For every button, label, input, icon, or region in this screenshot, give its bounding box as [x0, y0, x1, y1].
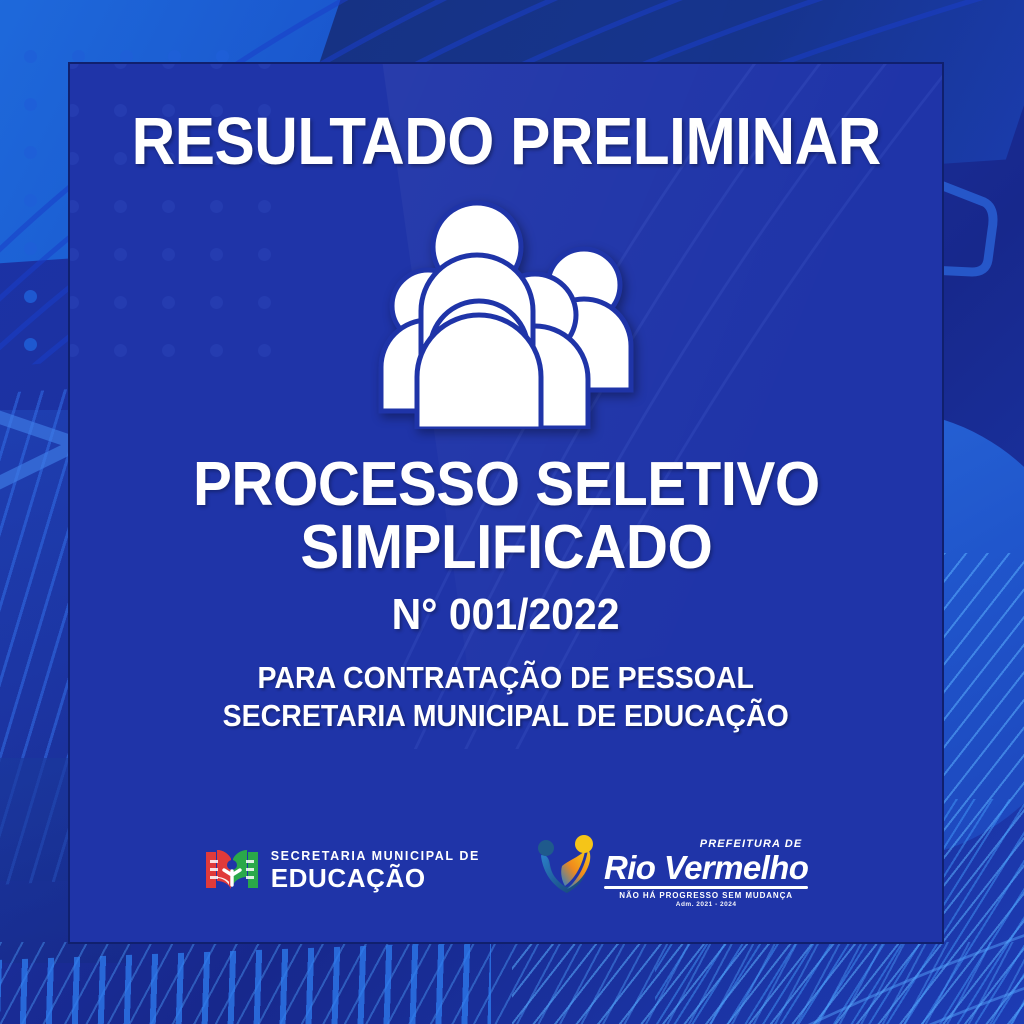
subtitle-line-1: PARA CONTRATAÇÃO DE PESSOAL — [223, 659, 789, 697]
headline-line-1: PROCESSO SELETIVO — [193, 453, 820, 516]
dot — [24, 290, 37, 303]
social-media-announcement-banner: RESULTADO PRELIMINAR — [0, 0, 1024, 1024]
city-hall-administration: Adm. 2021 - 2024 — [676, 902, 737, 909]
city-hall-divider — [604, 886, 808, 889]
subtitle: PARA CONTRATAÇÃO DE PESSOAL SECRETARIA M… — [223, 659, 789, 735]
group-of-people-icon — [377, 197, 635, 429]
announcement-card: RESULTADO PRELIMINAR — [68, 62, 944, 944]
education-department-logo: SECRETARIA MUNICIPAL DE EDUCAÇÃO — [204, 844, 480, 896]
subtitle-line-2: SECRETARIA MUNICIPAL DE EDUCAÇÃO — [223, 697, 789, 735]
two-figures-heart-icon — [536, 833, 598, 897]
dot — [24, 338, 37, 351]
dot — [24, 242, 37, 255]
dot — [24, 98, 37, 111]
dot — [24, 194, 37, 207]
process-number: N° 001/2022 — [392, 593, 620, 637]
page-title: RESULTADO PRELIMINAR — [131, 108, 880, 175]
city-hall-logo: PREFEITURA DE Rio Vermelho NÃO HÁ PROGRE… — [536, 833, 808, 909]
headline: PROCESSO SELETIVO SIMPLIFICADO — [193, 453, 820, 579]
city-hall-prefix: PREFEITURA DE — [700, 839, 803, 850]
open-book-icon — [204, 844, 260, 896]
dot — [24, 50, 37, 63]
education-logo-top-line: SECRETARIA MUNICIPAL DE — [271, 850, 480, 863]
headline-line-2: SIMPLIFICADO — [193, 516, 820, 579]
city-hall-slogan: NÃO HÁ PROGRESSO SEM MUDANÇA — [619, 892, 793, 900]
logo-row: SECRETARIA MUNICIPAL DE EDUCAÇÃO — [70, 833, 942, 909]
city-hall-name: Rio Vermelho — [604, 851, 808, 884]
dot — [24, 146, 37, 159]
education-logo-main-line: EDUCAÇÃO — [271, 865, 480, 891]
